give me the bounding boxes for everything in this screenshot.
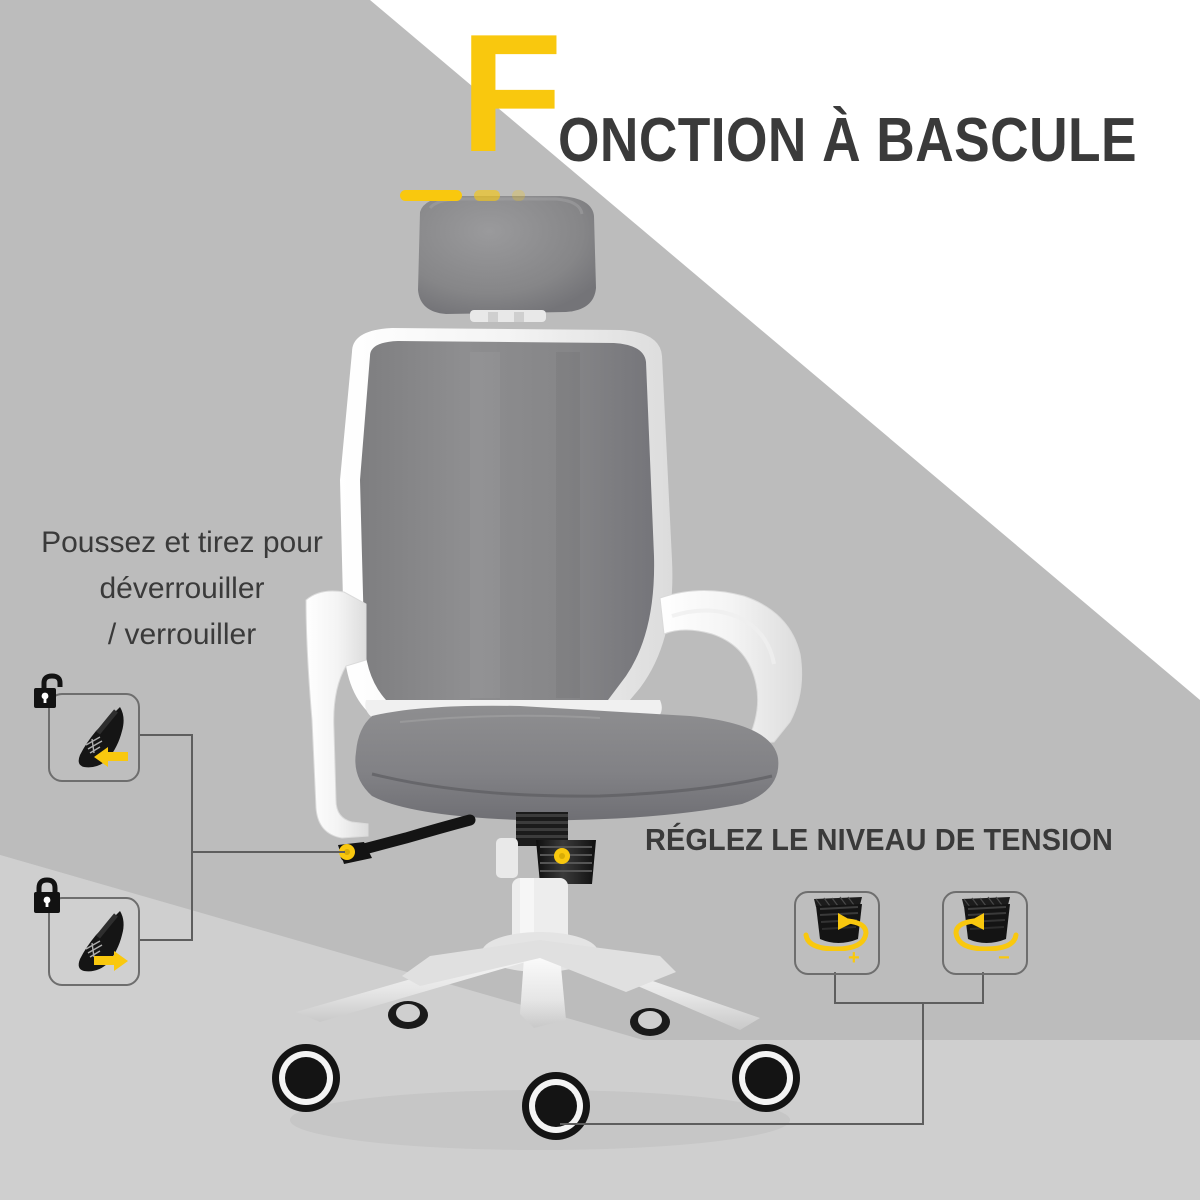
connector-right-to-caster	[560, 1003, 923, 1124]
left-caption-line-2: déverrouiller	[2, 566, 362, 612]
callout-tilt-unlock[interactable]	[48, 693, 140, 782]
padlock-open-icon	[32, 673, 66, 713]
callout-tension-decrease[interactable]: −	[942, 891, 1028, 975]
rotate-counterclockwise-icon	[948, 913, 1022, 951]
decorative-dashes	[400, 190, 525, 201]
dash-small	[512, 190, 525, 201]
tension-minus-symbol: −	[998, 948, 1010, 968]
padlock-closed-icon	[32, 877, 66, 917]
title-block: F ONCTION À BASCULE	[440, 18, 1190, 218]
connector-right-bridge	[835, 972, 983, 1003]
left-caption-line-3: / verrouiller	[2, 612, 362, 658]
title-initial: F	[460, 18, 561, 168]
title-text: ONCTION À BASCULE	[558, 110, 1137, 172]
callout-tilt-lock[interactable]	[48, 897, 140, 986]
dash-long	[400, 190, 462, 201]
arrow-left-icon	[94, 747, 128, 767]
right-caption: RÉGLEZ LE NIVEAU DE TENSION	[645, 822, 1113, 858]
dash-medium	[474, 190, 500, 201]
connector-left-spine	[138, 735, 192, 940]
arrow-right-icon	[94, 951, 128, 971]
callout-tension-increase[interactable]: +	[794, 891, 880, 975]
infographic-canvas: F ONCTION À BASCULE Poussez et tirez pou…	[0, 0, 1200, 1200]
left-caption-line-1: Poussez et tirez pour	[2, 520, 362, 566]
tension-plus-symbol: +	[848, 948, 860, 968]
rotate-clockwise-icon	[800, 913, 874, 951]
left-caption: Poussez et tirez pour déverrouiller / ve…	[2, 520, 362, 658]
